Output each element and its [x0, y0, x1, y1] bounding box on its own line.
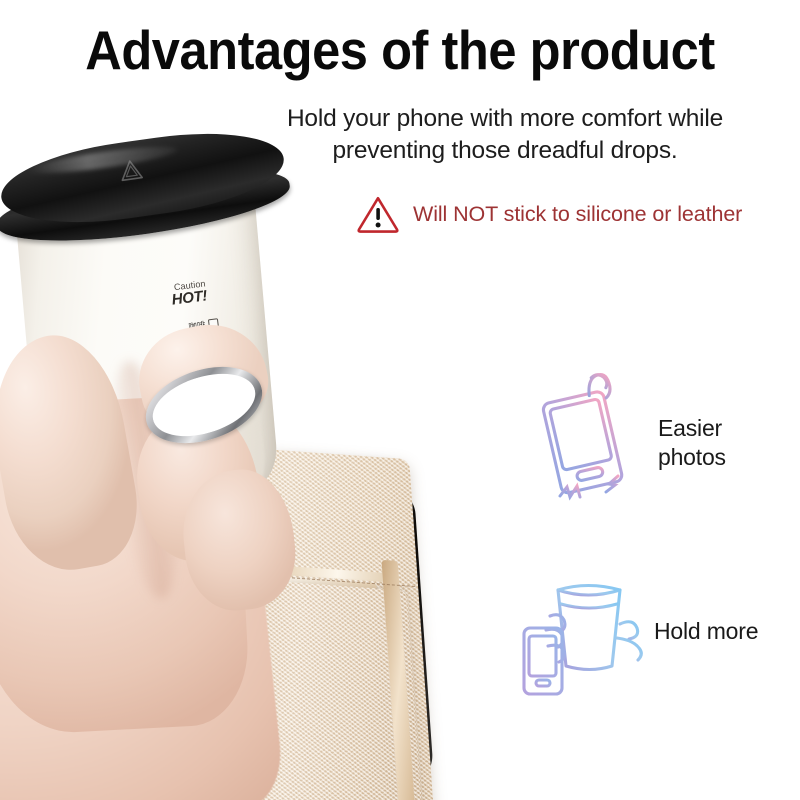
- feature-2-label-line-1: Hold more: [654, 617, 758, 646]
- feature-1-label-line-2: photos: [658, 443, 726, 472]
- product-advantages-infographic: Advantages of the product Hold your phon…: [0, 0, 800, 800]
- hand-holding-cup-and-phone-icon: [522, 560, 652, 702]
- feature-1-label: Easier photos: [658, 414, 726, 472]
- page-title: Advantages of the product: [32, 22, 768, 80]
- feature-1-label-line-1: Easier: [658, 414, 726, 443]
- feature-easier-photos: Easier photos: [534, 372, 726, 514]
- product-photo: Caution HOT! 咖啡 豆浆 热巧克力 奶茶: [0, 130, 508, 800]
- phone-with-finger-ring-photo-icon: [534, 372, 652, 514]
- feature-hold-more: Hold more: [522, 560, 758, 702]
- recycling-triangle-icon: [116, 156, 145, 183]
- feature-2-label: Hold more: [654, 617, 758, 646]
